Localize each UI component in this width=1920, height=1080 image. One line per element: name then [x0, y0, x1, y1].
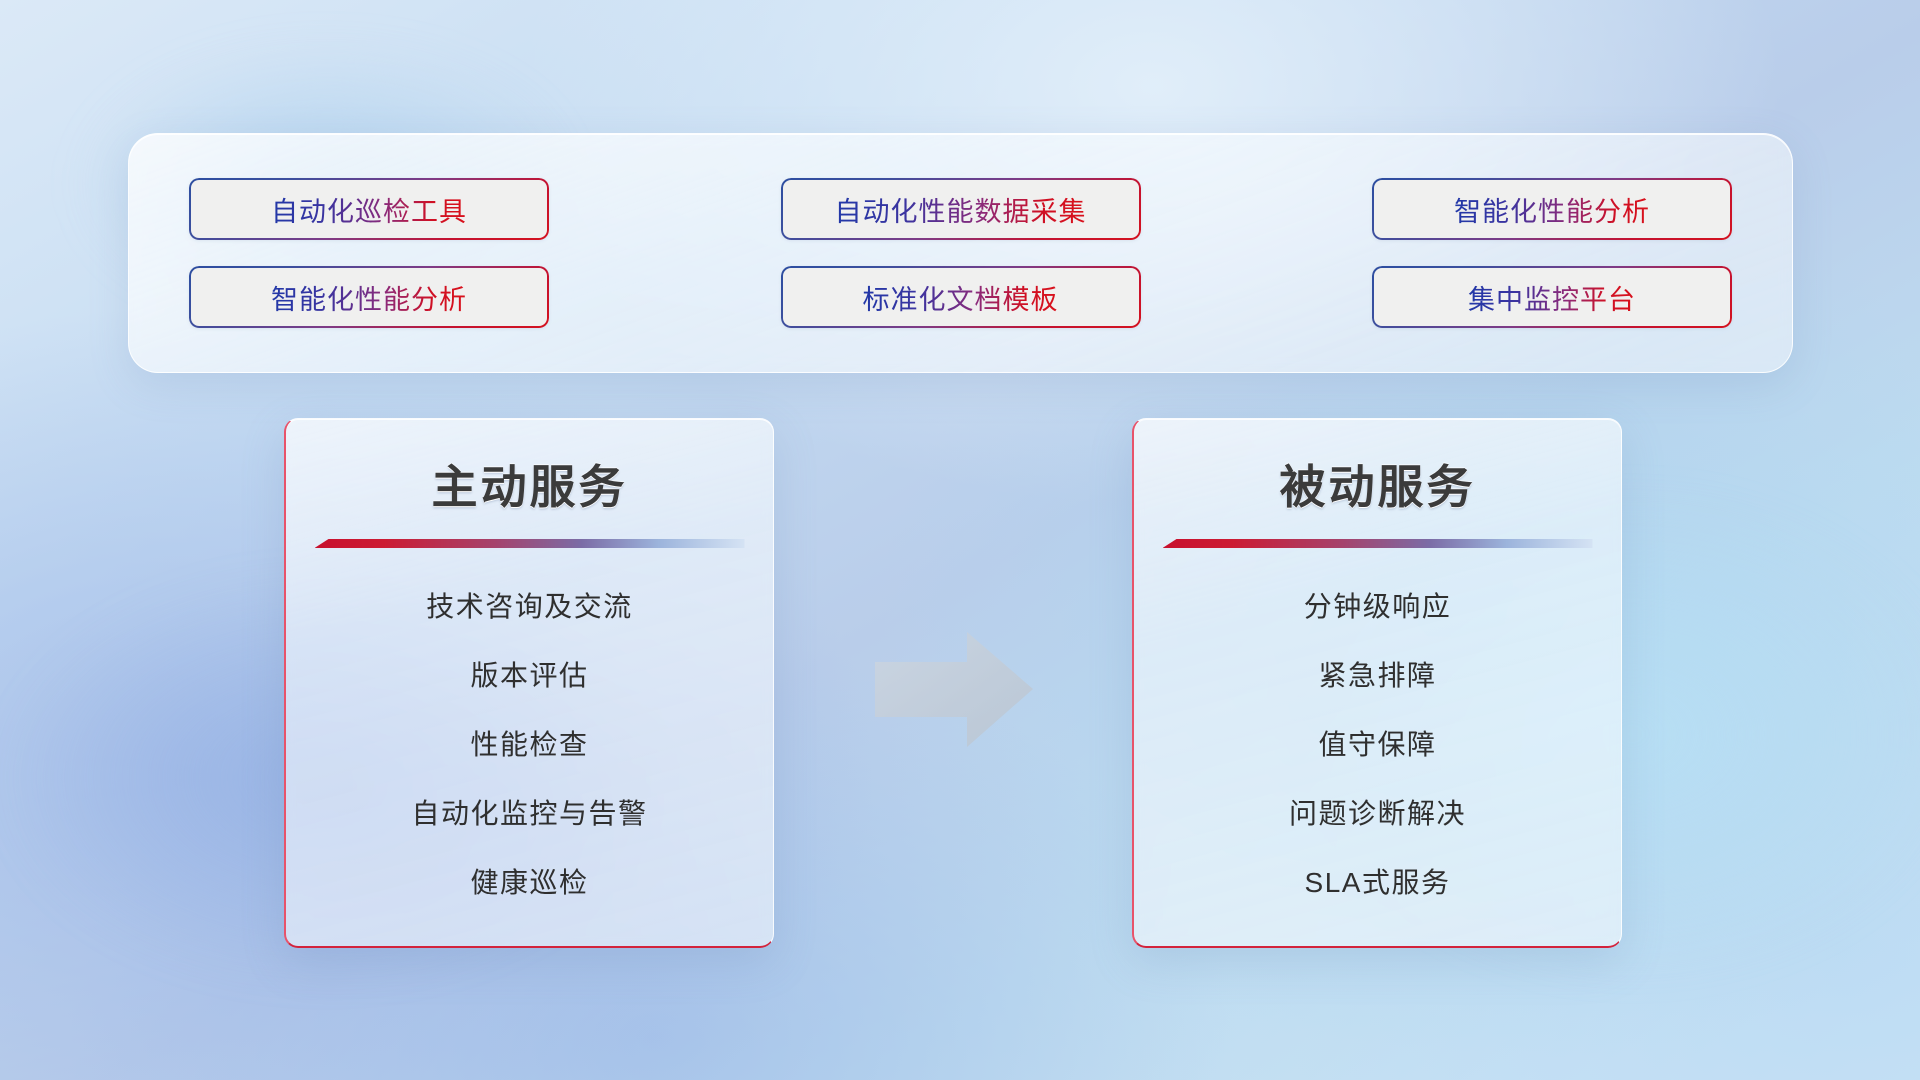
list-item: 自动化监控与告警 [411, 792, 647, 832]
service-card-proactive: 主动服务 技术咨询及交流 版本评估 性能检查 自动化监控与告警 健康巡检 [284, 418, 774, 948]
list-item: 技术咨询及交流 [426, 585, 633, 625]
capability-pill-label: 自动化巡检工具 [271, 190, 467, 229]
card-title: 被动服务 [1280, 451, 1476, 517]
card-divider [315, 539, 745, 551]
list-item: 健康巡检 [470, 861, 588, 901]
capability-pill-label: 智能化性能分析 [1454, 190, 1650, 229]
list-item: SLA式服务 [1305, 861, 1451, 901]
capability-pill[interactable]: 自动化性能数据采集 [781, 178, 1141, 240]
capability-panel: 自动化巡检工具 自动化性能数据采集 智能化性能分析 智能化性能分析 标准化文档模… [128, 133, 1793, 373]
list-item: 紧急排障 [1318, 654, 1436, 694]
capability-pill-label: 自动化性能数据采集 [835, 190, 1087, 229]
capability-pill[interactable]: 集中监控平台 [1372, 266, 1732, 328]
capability-pill-label: 集中监控平台 [1468, 278, 1636, 317]
capability-row-1: 自动化巡检工具 自动化性能数据采集 智能化性能分析 [189, 178, 1732, 240]
card-title: 主动服务 [432, 451, 628, 517]
capability-pill[interactable]: 智能化性能分析 [1372, 178, 1732, 240]
list-item: 性能检查 [470, 723, 588, 763]
list-item: 问题诊断解决 [1289, 792, 1466, 832]
capability-pill[interactable]: 智能化性能分析 [189, 266, 549, 328]
capability-pill-label: 标准化文档模板 [863, 278, 1059, 317]
list-item: 分钟级响应 [1304, 585, 1452, 625]
service-card-reactive: 被动服务 分钟级响应 紧急排障 值守保障 问题诊断解决 SLA式服务 [1132, 418, 1622, 948]
capability-pill[interactable]: 标准化文档模板 [781, 266, 1141, 328]
list-item: 版本评估 [470, 654, 588, 694]
capability-pill[interactable]: 自动化巡检工具 [189, 178, 549, 240]
capability-pill-label: 智能化性能分析 [271, 278, 467, 317]
right-arrow-icon [875, 632, 1033, 747]
card-item-list: 技术咨询及交流 版本评估 性能检查 自动化监控与告警 健康巡检 [286, 585, 773, 901]
card-divider [1163, 539, 1593, 551]
list-item: 值守保障 [1318, 723, 1436, 763]
card-item-list: 分钟级响应 紧急排障 值守保障 问题诊断解决 SLA式服务 [1134, 585, 1621, 901]
capability-row-2: 智能化性能分析 标准化文档模板 集中监控平台 [189, 266, 1732, 328]
